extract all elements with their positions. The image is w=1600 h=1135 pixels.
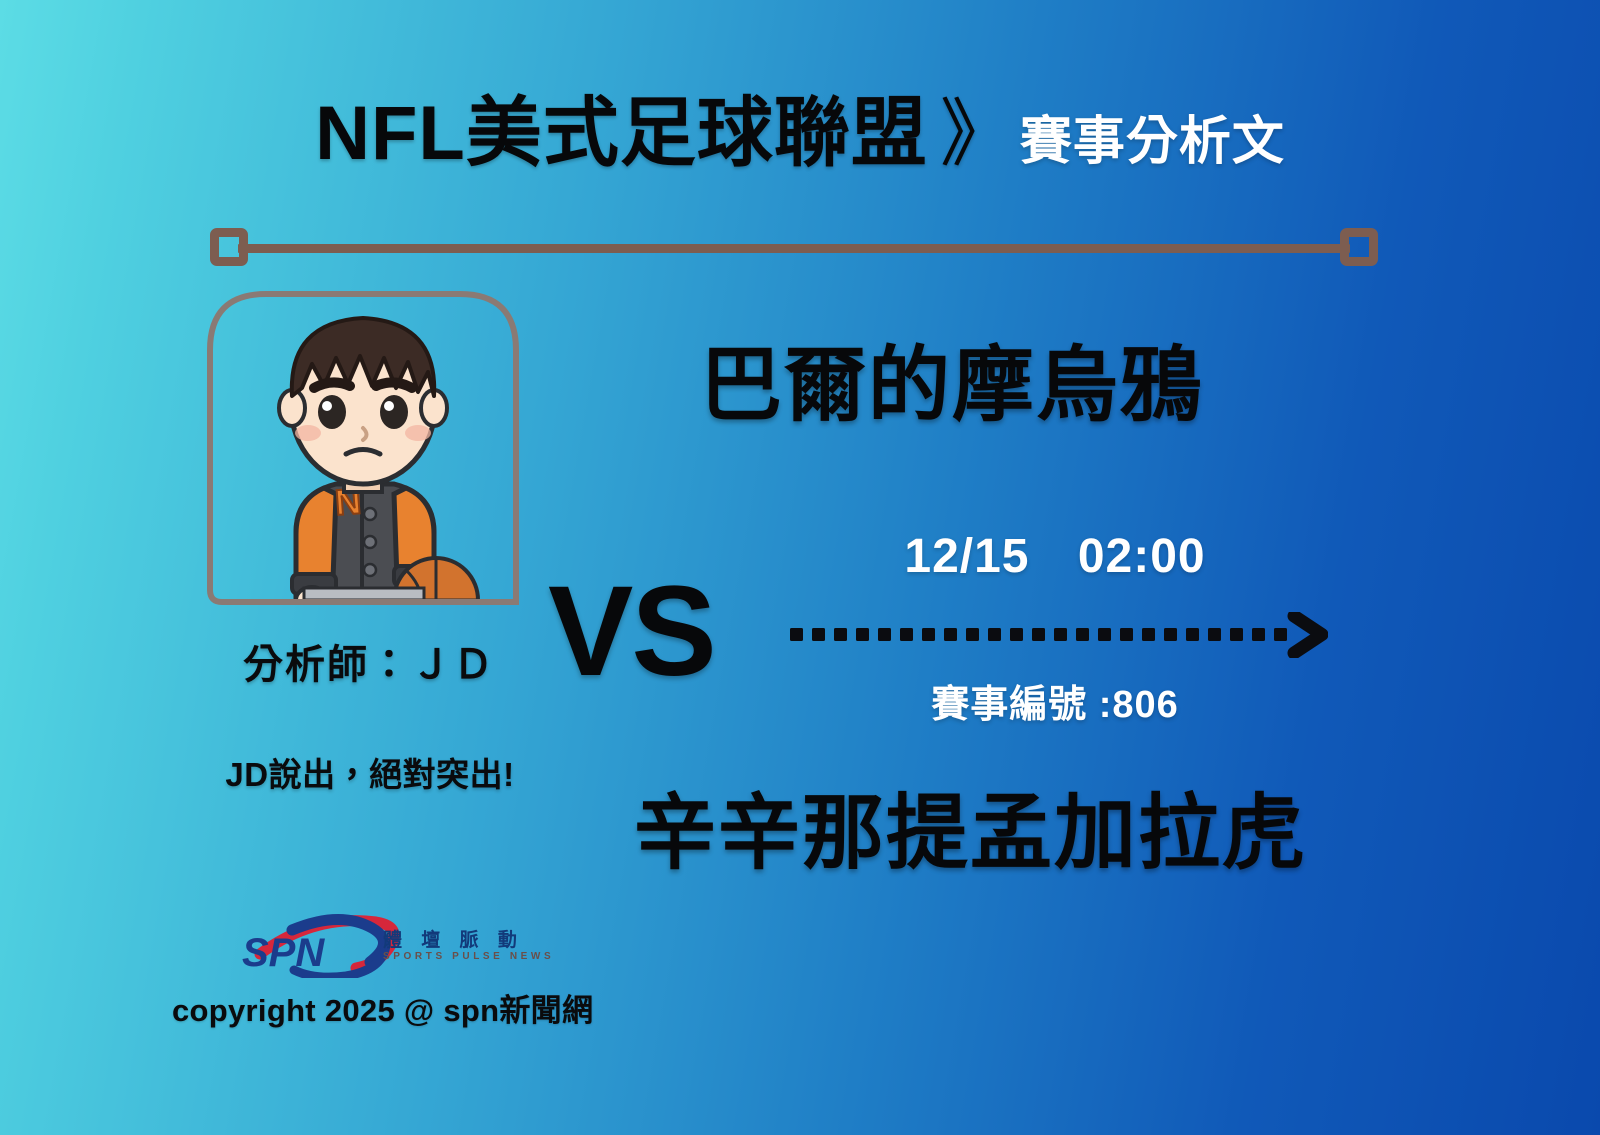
match-date: 12/15 — [904, 530, 1029, 583]
dotted-arrow-icon — [788, 612, 1328, 658]
analyst-slogan: JD說出，絕對突出! — [170, 748, 570, 796]
divider-bar — [238, 244, 1350, 253]
away-team-name: 辛辛那提孟加拉虎 — [634, 793, 1306, 875]
copyright-text: copyright 2025 @ spn新聞網 — [172, 985, 593, 1030]
spn-wordmark: SPN — [242, 931, 325, 975]
analyst-avatar-frame: N — [204, 288, 522, 608]
home-team-name: 巴爾的摩烏鴉 — [700, 345, 1204, 427]
versus-label: VS — [548, 568, 715, 696]
match-datetime: 12/15 02:00 — [770, 529, 1340, 584]
analyst-name: 分析師：ＪＤ — [204, 632, 534, 690]
poster-header: NFL美式足球聯盟 》 賽事分析文 — [0, 96, 1600, 172]
brand-name-en: SPORTS PULSE NEWS — [383, 951, 554, 962]
chevron-right-double-icon: 》 — [940, 97, 1014, 171]
match-time: 02:00 — [1078, 530, 1206, 583]
match-number: 賽事編號 :806 — [770, 673, 1340, 728]
header-divider — [210, 228, 1378, 268]
brand-name-cn: 體 壇 脈 動 — [383, 925, 524, 952]
match-analysis-poster: NFL美式足球聯盟 》 賽事分析文 — [0, 0, 1600, 1135]
page-subtitle: 賽事分析文 — [1020, 116, 1285, 168]
divider-cap-right-icon — [1340, 228, 1378, 266]
page-title: NFL美式足球聯盟 — [315, 96, 928, 172]
analyst-avatar-illustration: N — [204, 288, 522, 608]
